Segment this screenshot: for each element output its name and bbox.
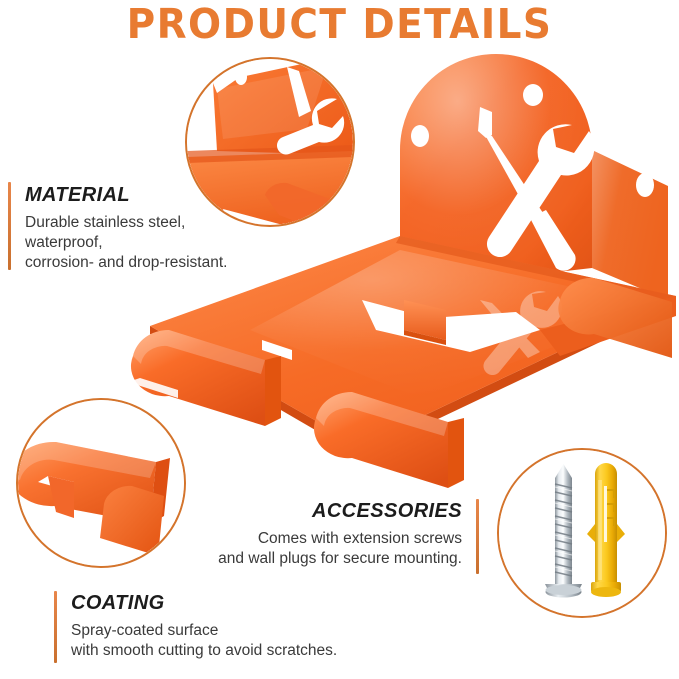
callout-coating-zoom bbox=[16, 398, 186, 568]
feature-coating-line: Spray-coated surface bbox=[71, 621, 337, 641]
product-backplate bbox=[400, 54, 668, 300]
accent-bar-accessories bbox=[476, 499, 479, 574]
feature-material-line: corrosion- and drop-resistant. bbox=[25, 253, 227, 273]
product-arm-left bbox=[128, 330, 281, 426]
feature-accessories-line: Comes with extension screws bbox=[218, 529, 462, 549]
feature-coating-heading: COATING bbox=[54, 592, 337, 615]
mounting-hole bbox=[411, 125, 429, 147]
center-tab bbox=[404, 300, 446, 340]
callout-accessories-zoom bbox=[497, 448, 667, 618]
product-baseplate bbox=[150, 236, 676, 456]
page-title: PRODUCT DETAILS bbox=[17, 2, 662, 46]
accent-bar-material bbox=[8, 182, 11, 270]
feature-material: MATERIAL Durable stainless steel, waterp… bbox=[8, 182, 227, 273]
accent-bar-coating bbox=[54, 591, 57, 663]
callout-accessories-image bbox=[499, 450, 665, 616]
feature-coating: COATING Spray-coated surface with smooth… bbox=[54, 591, 337, 661]
feature-material-heading: MATERIAL bbox=[8, 184, 227, 207]
product-arm-rear bbox=[558, 278, 672, 358]
product-details-infographic: PRODUCT DETAILS bbox=[0, 0, 679, 679]
feature-accessories-heading: ACCESSORIES bbox=[218, 500, 479, 523]
tool-reflection bbox=[480, 291, 562, 375]
mounting-hole bbox=[523, 84, 543, 106]
product-arm-right bbox=[314, 392, 464, 488]
mounting-hole bbox=[636, 173, 654, 197]
callout-material-zoom bbox=[185, 57, 355, 227]
feature-material-line: Durable stainless steel, bbox=[25, 213, 227, 233]
tool-cutout-icon bbox=[478, 107, 594, 271]
feature-coating-line: with smooth cutting to avoid scratches. bbox=[71, 641, 337, 661]
feature-material-line: waterproof, bbox=[25, 233, 227, 253]
callout-coating-image bbox=[18, 400, 184, 566]
feature-accessories: ACCESSORIES Comes with extension screws … bbox=[218, 499, 479, 569]
callout-material-image bbox=[187, 59, 353, 225]
feature-accessories-line: and wall plugs for secure mounting. bbox=[218, 549, 462, 569]
